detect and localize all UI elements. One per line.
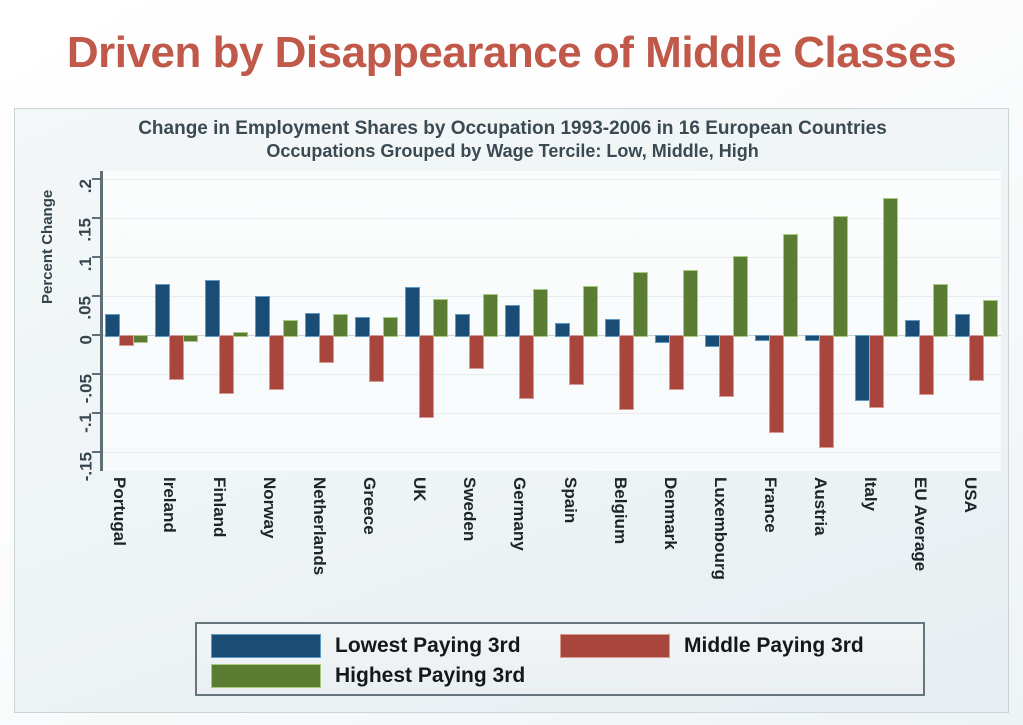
chart-title-line1: Change in Employment Shares by Occupatio… xyxy=(15,117,1010,140)
bar xyxy=(255,296,270,337)
bar-group xyxy=(155,171,196,471)
bar-group xyxy=(455,171,496,471)
x-axis-tick-label: UK xyxy=(409,477,429,502)
bar xyxy=(633,272,648,336)
chart-title: Change in Employment Shares by Occupatio… xyxy=(15,117,1010,163)
x-axis-tick-label: USA xyxy=(960,477,980,513)
x-axis-tick-label: Ireland xyxy=(159,477,179,533)
bar xyxy=(105,314,120,337)
bar xyxy=(205,280,220,337)
bar xyxy=(419,335,434,419)
y-axis-tick-label: -.15 xyxy=(76,452,96,481)
bar-group xyxy=(955,171,996,471)
x-axis-tick-label: Italy xyxy=(860,477,880,511)
bar xyxy=(455,314,470,336)
x-axis-tick-label: Finland xyxy=(209,477,229,537)
bar xyxy=(433,299,448,337)
bar xyxy=(533,289,548,336)
bar xyxy=(683,270,698,337)
y-axis-tick-label: -.1 xyxy=(76,413,96,433)
bar-group xyxy=(855,171,896,471)
bar xyxy=(933,284,948,337)
chart-panel: Change in Employment Shares by Occupatio… xyxy=(14,108,1009,713)
bar-group xyxy=(405,171,446,471)
bar xyxy=(305,313,320,337)
bar xyxy=(133,335,148,343)
bar-group xyxy=(605,171,646,471)
bar-group xyxy=(805,171,846,471)
y-axis-tick-label: .15 xyxy=(76,218,96,242)
bar-group xyxy=(255,171,296,471)
bar xyxy=(283,320,298,337)
x-axis-tick-label: Spain xyxy=(560,477,580,523)
y-axis-tick-label: .05 xyxy=(76,296,96,320)
y-axis-tick-label: 0 xyxy=(76,335,96,344)
bar xyxy=(583,286,598,336)
bar xyxy=(805,335,820,342)
bar xyxy=(269,335,284,391)
y-axis-tick-label: -.05 xyxy=(76,374,96,403)
bar xyxy=(769,335,784,434)
bar xyxy=(569,335,584,385)
chart-legend: Lowest Paying 3rd Middle Paying 3rd High… xyxy=(195,622,925,696)
bar xyxy=(619,335,634,410)
x-axis-tick-label: France xyxy=(760,477,780,533)
legend-swatch-highest-icon xyxy=(211,664,321,688)
x-axis-tick-label: Netherlands xyxy=(309,477,329,575)
bar-group xyxy=(655,171,696,471)
bar xyxy=(383,317,398,337)
bar xyxy=(783,234,798,337)
x-axis-tick-label: Germany xyxy=(509,477,529,551)
bar-group xyxy=(705,171,746,471)
legend-label-middle: Middle Paying 3rd xyxy=(684,634,864,658)
x-axis-tick-label: Luxembourg xyxy=(710,477,730,580)
bar-group xyxy=(505,171,546,471)
bar xyxy=(169,335,184,381)
bar xyxy=(555,323,570,337)
bar xyxy=(669,335,684,390)
bar xyxy=(719,335,734,398)
y-axis-tick-label: .2 xyxy=(76,179,96,193)
bar xyxy=(333,314,348,336)
bar-group xyxy=(755,171,796,471)
bar xyxy=(983,300,998,337)
slide-root: Driven by Disappearance of Middle Classe… xyxy=(0,0,1023,725)
bar xyxy=(969,335,984,381)
y-axis-tick-label: .1 xyxy=(76,257,96,271)
bar xyxy=(183,335,198,342)
bar xyxy=(605,319,620,337)
bar xyxy=(369,335,384,382)
bar xyxy=(155,284,170,337)
page-title: Driven by Disappearance of Middle Classe… xyxy=(0,28,1023,78)
legend-item-middle: Middle Paying 3rd xyxy=(560,634,909,658)
bar xyxy=(733,256,748,337)
bar xyxy=(483,294,498,337)
bar xyxy=(883,198,898,336)
bar xyxy=(905,320,920,337)
bar xyxy=(955,314,970,336)
bar xyxy=(755,335,770,341)
bar xyxy=(355,317,370,337)
x-axis-tick-label: Norway xyxy=(259,477,279,538)
bar-group xyxy=(305,171,346,471)
legend-row-1: Lowest Paying 3rd Middle Paying 3rd xyxy=(211,631,909,661)
legend-swatch-middle-icon xyxy=(560,634,670,658)
plot-area xyxy=(100,171,1001,471)
x-axis-tick-label: Portugal xyxy=(109,477,129,546)
legend-label-highest: Highest Paying 3rd xyxy=(335,664,525,688)
bar-group xyxy=(905,171,946,471)
x-axis-tick-label: Denmark xyxy=(660,477,680,550)
bar xyxy=(319,335,334,363)
bar xyxy=(869,335,884,408)
legend-row-2: Highest Paying 3rd xyxy=(211,661,909,691)
bar xyxy=(219,335,234,395)
bar xyxy=(833,216,848,336)
bar-group xyxy=(105,171,146,471)
bar xyxy=(819,335,834,448)
bar-group xyxy=(355,171,396,471)
legend-item-highest: Highest Paying 3rd xyxy=(211,664,566,688)
y-axis-title: Percent Change xyxy=(39,190,56,304)
bar xyxy=(405,287,420,337)
x-axis-tick-label: Sweden xyxy=(459,477,479,541)
bar xyxy=(855,335,870,401)
bar xyxy=(233,332,248,337)
bar xyxy=(705,335,720,347)
x-axis-tick-label: Belgium xyxy=(610,477,630,544)
bar xyxy=(469,335,484,370)
chart-subtitle: Occupations Grouped by Wage Tercile: Low… xyxy=(15,140,1010,163)
x-axis-tick-label: Austria xyxy=(810,477,830,536)
legend-swatch-lowest-icon xyxy=(211,634,321,658)
bar xyxy=(655,335,670,343)
x-axis-tick-label: Greece xyxy=(359,477,379,535)
bar-group xyxy=(205,171,246,471)
bar-group xyxy=(555,171,596,471)
legend-item-lowest: Lowest Paying 3rd xyxy=(211,634,560,658)
x-axis-tick-label: EU Average xyxy=(910,477,930,571)
bar xyxy=(505,305,520,337)
bar xyxy=(519,335,534,399)
legend-label-lowest: Lowest Paying 3rd xyxy=(335,634,521,658)
bar xyxy=(119,335,134,346)
bar xyxy=(919,335,934,395)
